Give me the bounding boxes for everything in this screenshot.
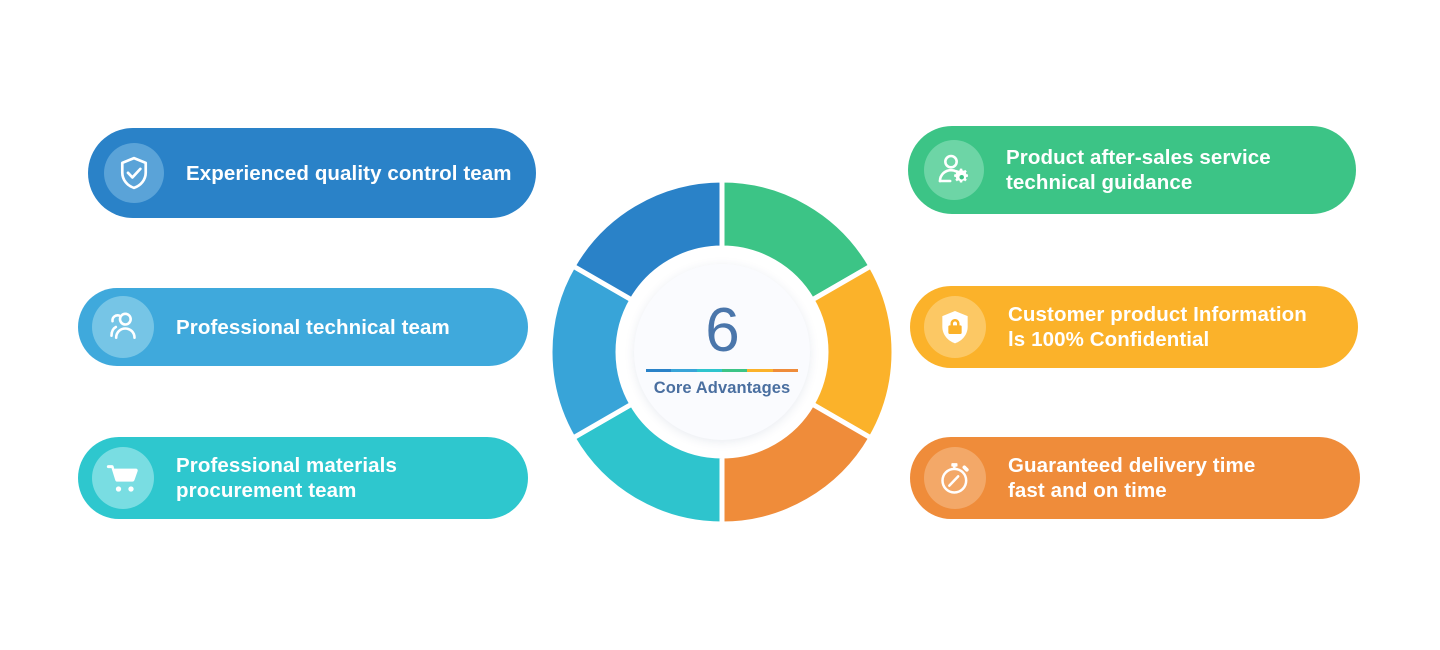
- divider-segment: [697, 369, 722, 372]
- advantage-card-materials-procurement[interactable]: Professional materials procurement team: [78, 437, 528, 519]
- advantage-label: Professional technical team: [176, 315, 450, 340]
- advantage-label: Product after-sales service technical gu…: [1006, 145, 1271, 195]
- advantage-count: 6: [705, 302, 738, 361]
- divider-segment: [671, 369, 696, 372]
- divider-segment: [747, 369, 772, 372]
- advantage-card-delivery-time[interactable]: Guaranteed delivery time fast and on tim…: [910, 437, 1360, 519]
- divider-segment: [773, 369, 798, 372]
- stopwatch-icon: [924, 447, 986, 509]
- infographic-canvas: Experienced quality control team Profess…: [0, 0, 1440, 650]
- advantage-card-confidentiality[interactable]: Customer product Information ls 100% Con…: [910, 286, 1358, 368]
- advantage-count-label: Core Advantages: [654, 379, 791, 398]
- divider-segment: [722, 369, 747, 372]
- advantage-label: Experienced quality control team: [186, 161, 512, 186]
- advantage-label: Customer product Information ls 100% Con…: [1008, 302, 1307, 352]
- people-group-icon: [92, 296, 154, 358]
- advantage-label: Professional materials procurement team: [176, 453, 397, 503]
- advantage-card-after-sales-service[interactable]: Product after-sales service technical gu…: [908, 126, 1356, 214]
- person-gear-icon: [924, 140, 984, 200]
- divider-segment: [646, 369, 671, 372]
- donut-center-hub: 6 Core Advantages: [634, 264, 810, 440]
- advantage-card-quality-control[interactable]: Experienced quality control team: [88, 128, 536, 218]
- advantage-card-technical-team[interactable]: Professional technical team: [78, 288, 528, 366]
- color-divider: [646, 369, 798, 372]
- core-advantages-donut-chart: 6 Core Advantages: [548, 178, 896, 526]
- shield-check-icon: [104, 143, 164, 203]
- shopping-cart-icon: [92, 447, 154, 509]
- shield-lock-icon: [924, 296, 986, 358]
- advantage-label: Guaranteed delivery time fast and on tim…: [1008, 453, 1255, 503]
